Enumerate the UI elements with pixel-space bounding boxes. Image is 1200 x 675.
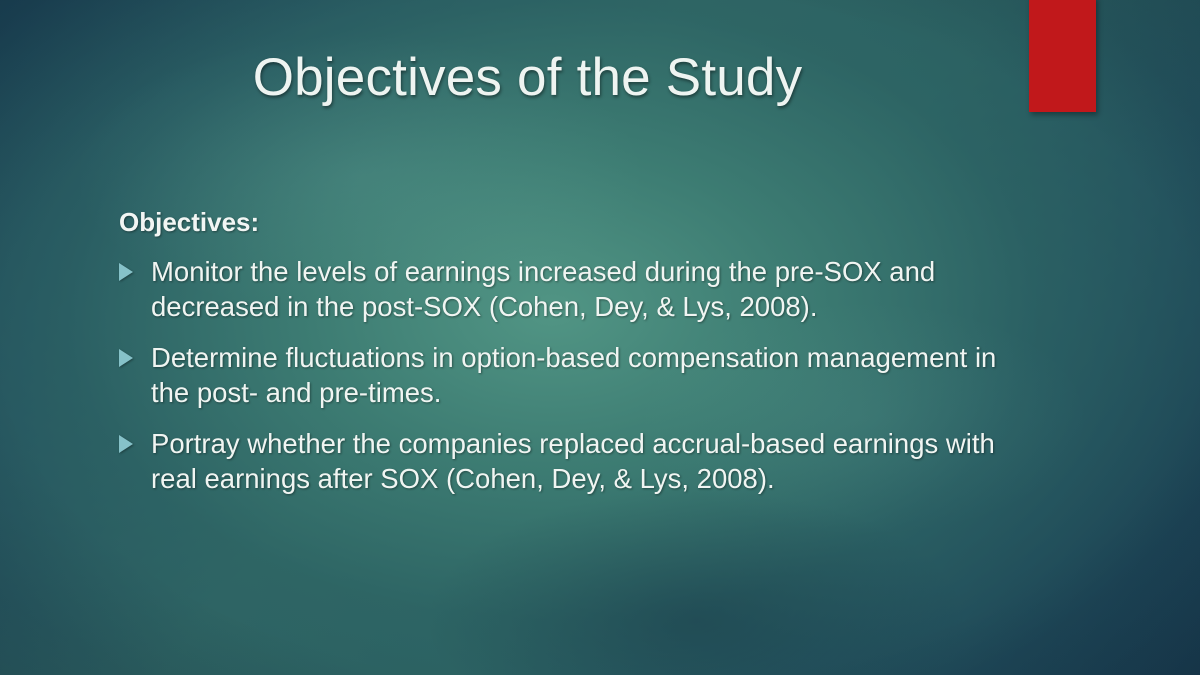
list-item-text: Portray whether the companies replaced a… (151, 426, 1009, 496)
list-item-text: Monitor the levels of earnings increased… (151, 254, 1009, 324)
list-item: Determine fluctuations in option-based c… (119, 340, 1009, 410)
list-item: Monitor the levels of earnings increased… (119, 254, 1009, 324)
page-title: Objectives of the Study (60, 48, 995, 107)
triangle-bullet-icon (119, 435, 133, 453)
list-item: Portray whether the companies replaced a… (119, 426, 1009, 496)
triangle-bullet-icon (119, 349, 133, 367)
slide: Objectives of the Study Objectives: Moni… (0, 0, 1200, 675)
triangle-bullet-icon (119, 263, 133, 281)
list-item-text: Determine fluctuations in option-based c… (151, 340, 1009, 410)
red-accent-bar (1029, 0, 1096, 112)
slide-body: Objectives: Monitor the levels of earnin… (119, 206, 1009, 496)
objectives-list: Monitor the levels of earnings increased… (119, 254, 1009, 496)
objectives-label: Objectives: (119, 206, 1009, 240)
